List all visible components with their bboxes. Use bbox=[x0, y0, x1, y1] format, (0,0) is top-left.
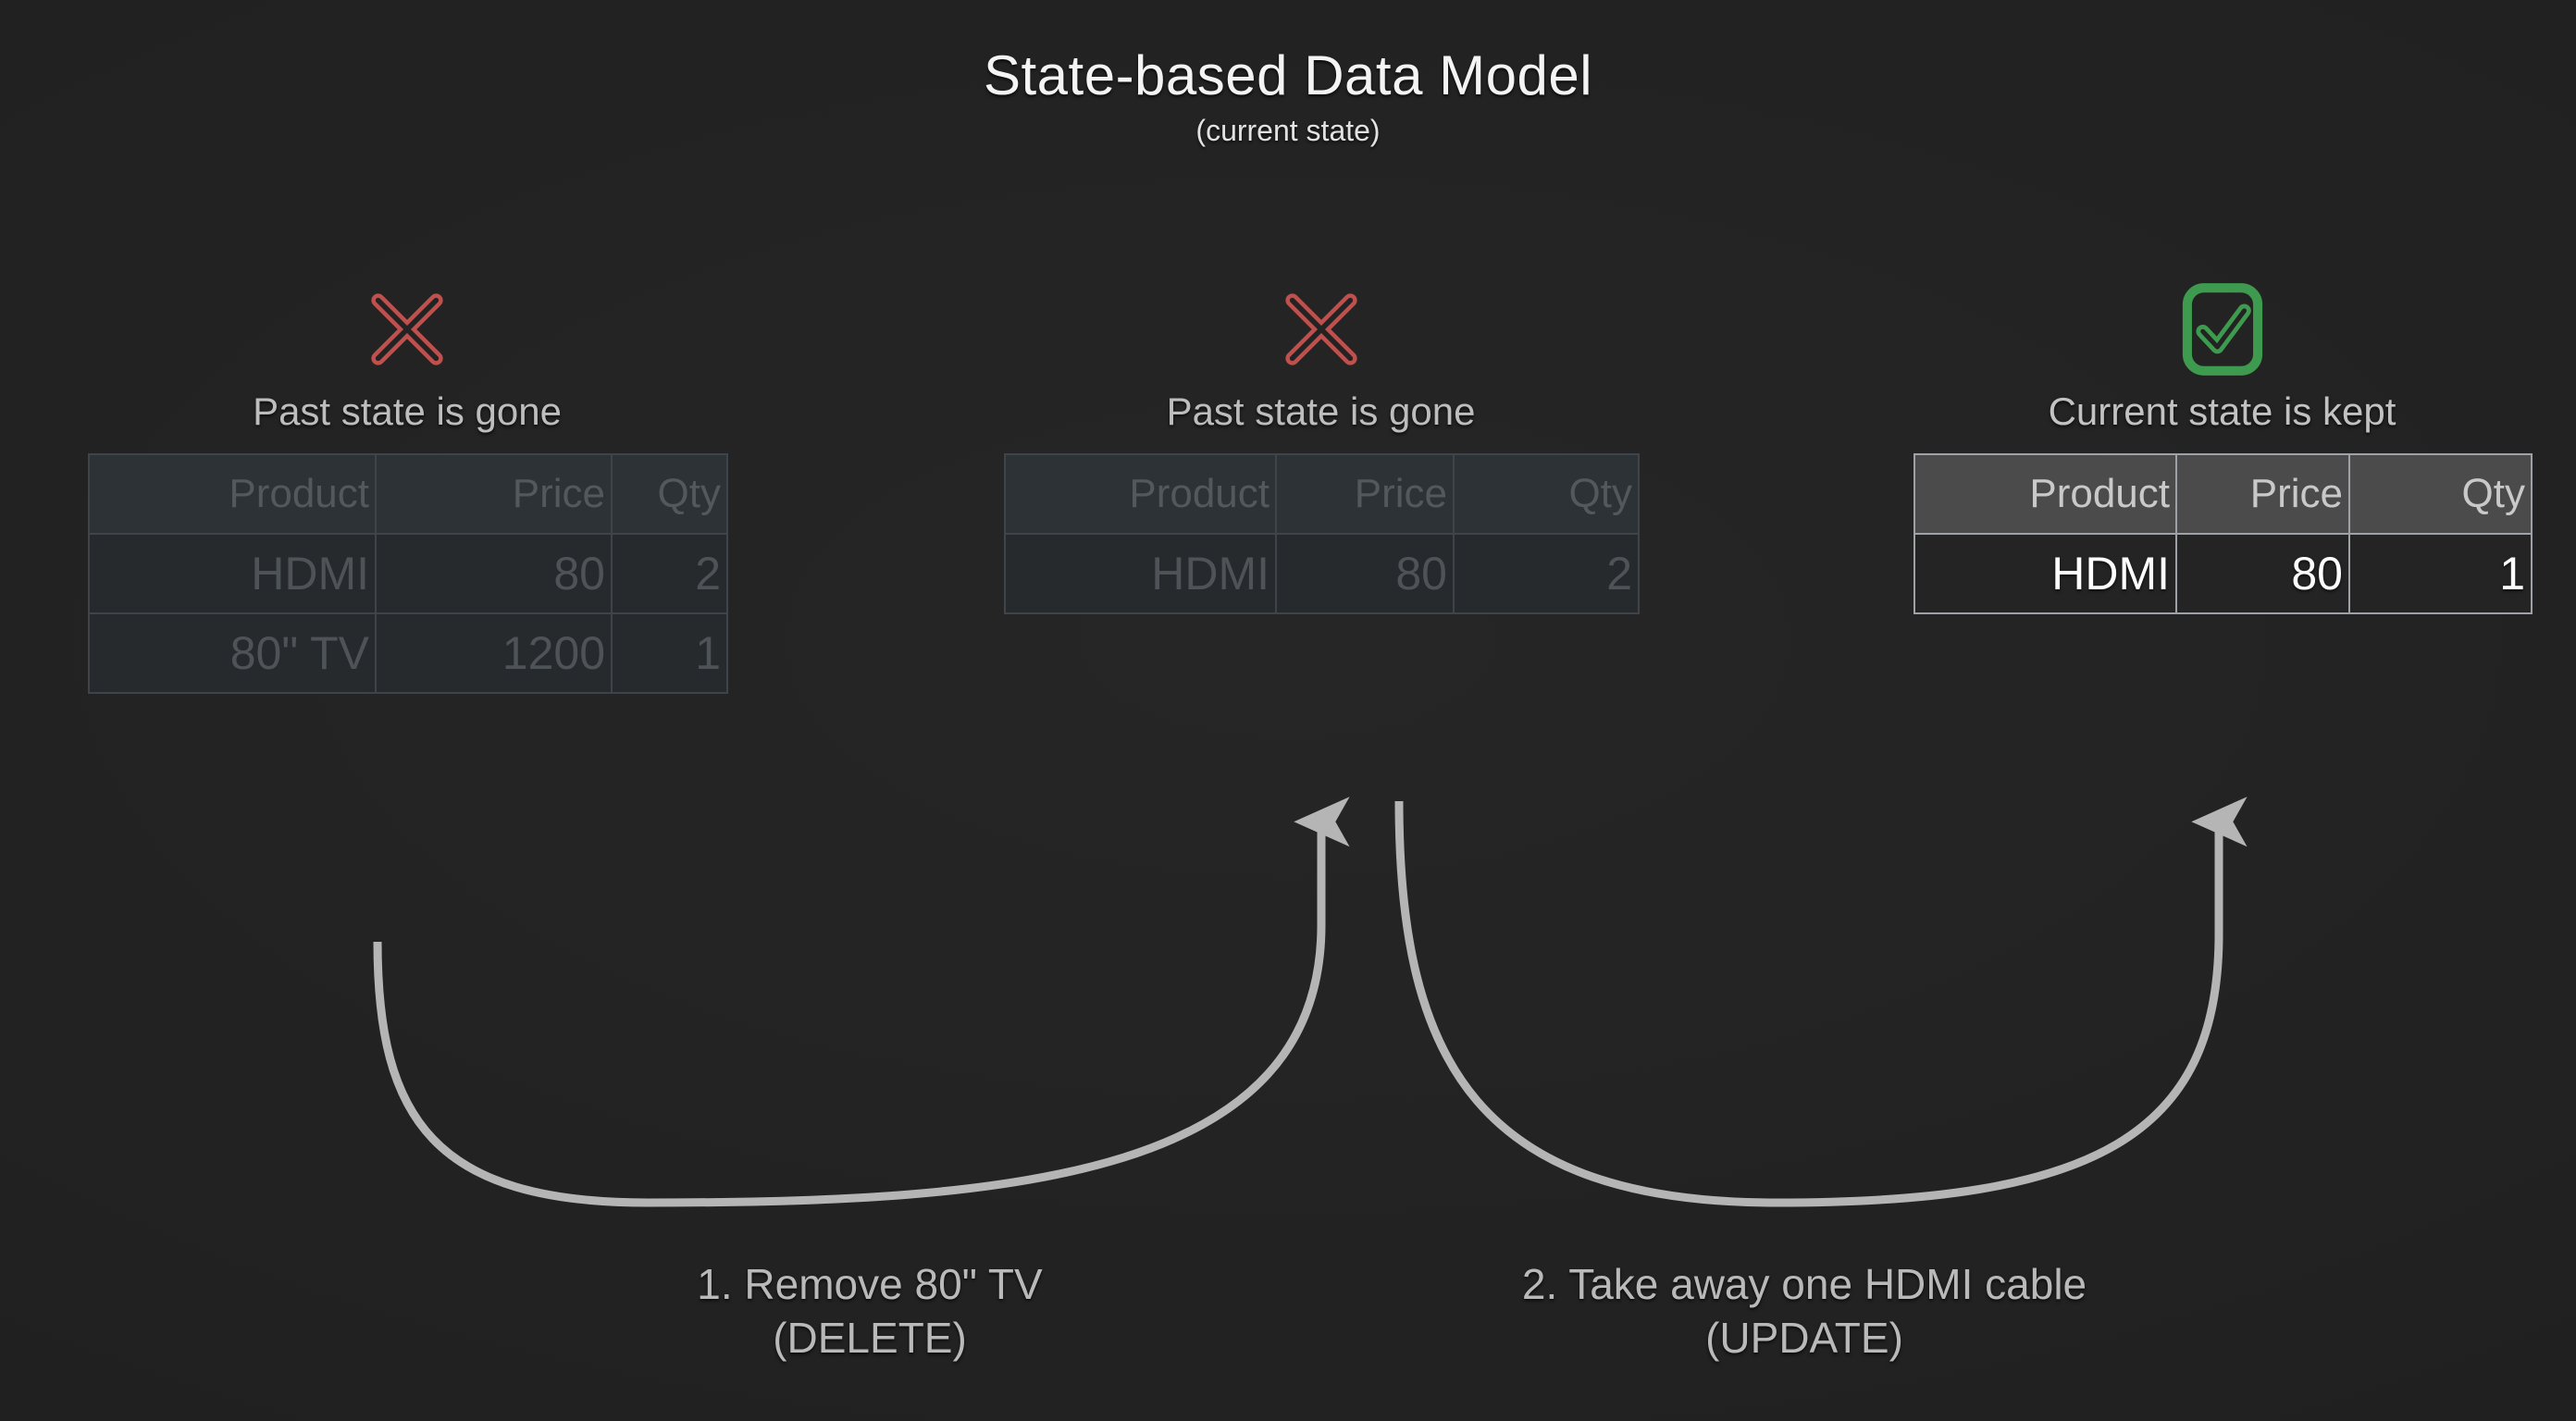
panel-past-state-1: Past state is gone Product Price Qty HDM… bbox=[88, 278, 726, 694]
cell-qty: 1 bbox=[2349, 534, 2532, 613]
caption-update-line1: 2. Take away one HDMI cable bbox=[1522, 1260, 2087, 1308]
column-header-price: Price bbox=[2176, 454, 2349, 534]
caption-delete-line1: 1. Remove 80" TV bbox=[697, 1260, 1042, 1308]
red-x-icon bbox=[1267, 278, 1376, 381]
arrow-delete bbox=[378, 823, 1321, 1203]
cell-price: 80 bbox=[2176, 534, 2349, 613]
cell-price: 1200 bbox=[376, 613, 612, 693]
panel-label: Past state is gone bbox=[1004, 392, 1638, 431]
column-header-qty: Qty bbox=[2349, 454, 2532, 534]
page-title: State-based Data Model bbox=[0, 46, 2576, 105]
caption-delete-line2: (DELETE) bbox=[574, 1312, 1166, 1365]
cell-price: 80 bbox=[376, 534, 612, 613]
column-header-price: Price bbox=[376, 454, 612, 534]
title-block: State-based Data Model (current state) bbox=[0, 46, 2576, 148]
cell-qty: 1 bbox=[612, 613, 727, 693]
table-row: HDMI 80 2 bbox=[89, 534, 727, 613]
caption-delete: 1. Remove 80" TV (DELETE) bbox=[574, 1258, 1166, 1365]
cell-product: HDMI bbox=[1005, 534, 1276, 613]
column-header-product: Product bbox=[1914, 454, 2176, 534]
cell-product: 80" TV bbox=[89, 613, 376, 693]
state-table-current: Product Price Qty HDMI 80 1 bbox=[1913, 453, 2533, 614]
arrow-update bbox=[1399, 801, 2219, 1203]
cell-qty: 2 bbox=[1454, 534, 1639, 613]
panel-current-state: Current state is kept Product Price Qty … bbox=[1913, 278, 2531, 614]
state-table-past-1: Product Price Qty HDMI 80 2 80" TV 1200 … bbox=[88, 453, 728, 694]
column-header-qty: Qty bbox=[612, 454, 727, 534]
table-header-row: Product Price Qty bbox=[1914, 454, 2532, 534]
table-row: HDMI 80 1 bbox=[1914, 534, 2532, 613]
column-header-price: Price bbox=[1276, 454, 1454, 534]
table-row: 80" TV 1200 1 bbox=[89, 613, 727, 693]
cell-product: HDMI bbox=[89, 534, 376, 613]
arrow-layer bbox=[0, 0, 2576, 1421]
column-header-product: Product bbox=[1005, 454, 1276, 534]
red-x-icon bbox=[353, 278, 462, 381]
panel-label: Past state is gone bbox=[88, 392, 726, 431]
column-header-product: Product bbox=[89, 454, 376, 534]
state-table-past-2: Product Price Qty HDMI 80 2 bbox=[1004, 453, 1640, 614]
green-check-box-icon bbox=[2168, 278, 2277, 381]
caption-update-line2: (UPDATE) bbox=[1342, 1312, 2267, 1365]
cell-price: 80 bbox=[1276, 534, 1454, 613]
column-header-qty: Qty bbox=[1454, 454, 1639, 534]
cell-qty: 2 bbox=[612, 534, 727, 613]
panel-past-state-2: Past state is gone Product Price Qty HDM… bbox=[1004, 278, 1638, 614]
table-header-row: Product Price Qty bbox=[1005, 454, 1639, 534]
panel-label: Current state is kept bbox=[1913, 392, 2531, 431]
page-subtitle: (current state) bbox=[0, 114, 2576, 148]
caption-update: 2. Take away one HDMI cable (UPDATE) bbox=[1342, 1258, 2267, 1365]
cell-product: HDMI bbox=[1914, 534, 2176, 613]
table-row: HDMI 80 2 bbox=[1005, 534, 1639, 613]
table-header-row: Product Price Qty bbox=[89, 454, 727, 534]
